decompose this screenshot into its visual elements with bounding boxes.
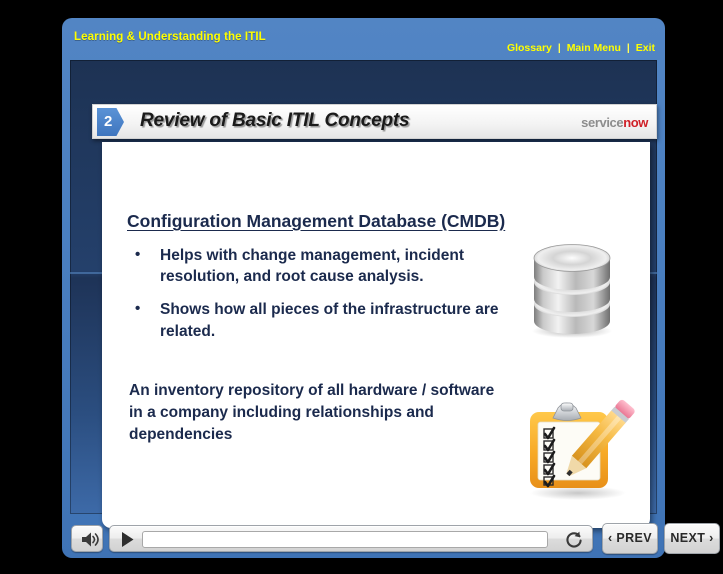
replay-icon[interactable] [564,530,584,550]
main-menu-link[interactable]: Main Menu [567,42,621,54]
volume-button[interactable] [71,525,103,552]
slide-stage: 2 Review of Basic ITIL Concepts servicen… [70,60,657,514]
bullet-marker: • [135,299,140,320]
brand-text-service: service [581,115,623,130]
prev-button-label: ‹ PREV [603,524,657,553]
bullet-text: Shows how all pieces of the infrastructu… [160,301,499,339]
nav-separator-2: | [624,42,633,54]
slide-title: Review of Basic ITIL Concepts [140,110,409,132]
page-title: Learning & Understanding the ITIL [74,31,266,43]
clipboard-checklist-pencil-icon [512,392,642,502]
glossary-link[interactable]: Glossary [507,42,552,54]
prev-button[interactable]: ‹ PREV [602,523,658,554]
brand-text-now: now [623,115,648,130]
player-controls: ‹ PREV NEXT › [62,518,665,558]
next-button[interactable]: NEXT › [664,523,720,554]
bullet-list: • Helps with change management, incident… [129,245,524,354]
nav-separator-1: | [555,42,564,54]
servicenow-logo: servicenow [581,115,648,130]
slide-number-badge: 2 [97,108,124,136]
titlebar: Learning & Understanding the ITIL Glossa… [62,18,665,60]
slide-header-bar: 2 Review of Basic ITIL Concepts servicen… [92,104,657,139]
titlebar-nav: Glossary | Main Menu | Exit [507,42,655,54]
exit-link[interactable]: Exit [636,42,655,54]
play-button[interactable] [118,530,137,549]
next-button-label: NEXT › [665,524,719,553]
seek-slider[interactable] [142,531,548,548]
course-player-shell: Learning & Understanding the ITIL Glossa… [62,18,665,558]
summary-paragraph: An inventory repository of all hardware … [129,380,499,446]
slide-content-card: Configuration Management Database (CMDB)… [102,142,650,528]
playback-bar [109,525,593,552]
bullet-text: Helps with change management, incident r… [160,247,464,285]
bullet-item: • Helps with change management, incident… [129,245,524,287]
bullet-item: • Shows how all pieces of the infrastruc… [129,299,524,341]
bullet-marker: • [135,245,140,266]
speaker-icon [72,526,104,553]
content-heading: Configuration Management Database (CMDB) [127,211,505,232]
database-stack-icon [526,238,618,338]
